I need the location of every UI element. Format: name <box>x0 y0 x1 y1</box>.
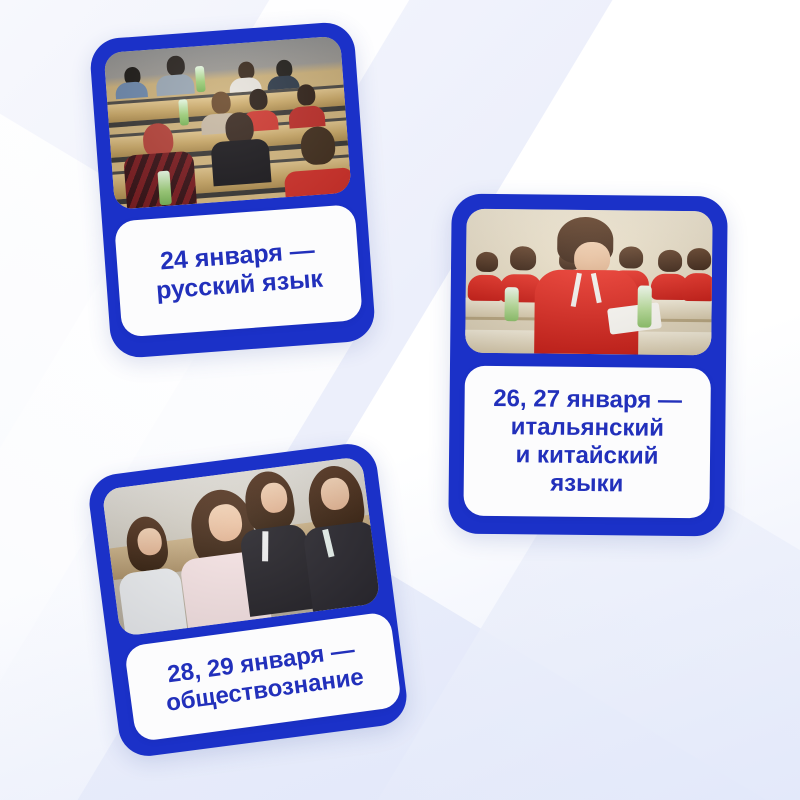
caption-line: языки <box>492 469 681 499</box>
caption-line: итальянский <box>493 413 682 443</box>
card-photo-languages <box>465 209 712 356</box>
card-caption-russian: 24 января — русский язык <box>114 204 363 337</box>
schedule-card-russian[interactable]: 24 января — русский язык <box>89 21 377 360</box>
caption-line: 26, 27 января — <box>493 385 682 415</box>
poster-canvas: 24 января — русский язык <box>0 0 800 800</box>
schedule-card-languages[interactable]: 26, 27 января — итальянский и китайский … <box>448 194 728 537</box>
caption-line: и китайский <box>493 441 682 471</box>
card-caption-social-studies: 28, 29 января — обществознание <box>124 611 403 742</box>
card-photo-social-studies <box>102 456 381 636</box>
schedule-card-social-studies[interactable]: 28, 29 января — обществознание <box>86 441 410 760</box>
lecture-hall-illustration <box>104 36 352 210</box>
auditorium-students-illustration <box>102 456 381 636</box>
card-caption-languages: 26, 27 января — итальянский и китайский … <box>463 366 711 519</box>
card-photo-russian <box>104 36 352 210</box>
exam-room-illustration <box>465 209 712 356</box>
